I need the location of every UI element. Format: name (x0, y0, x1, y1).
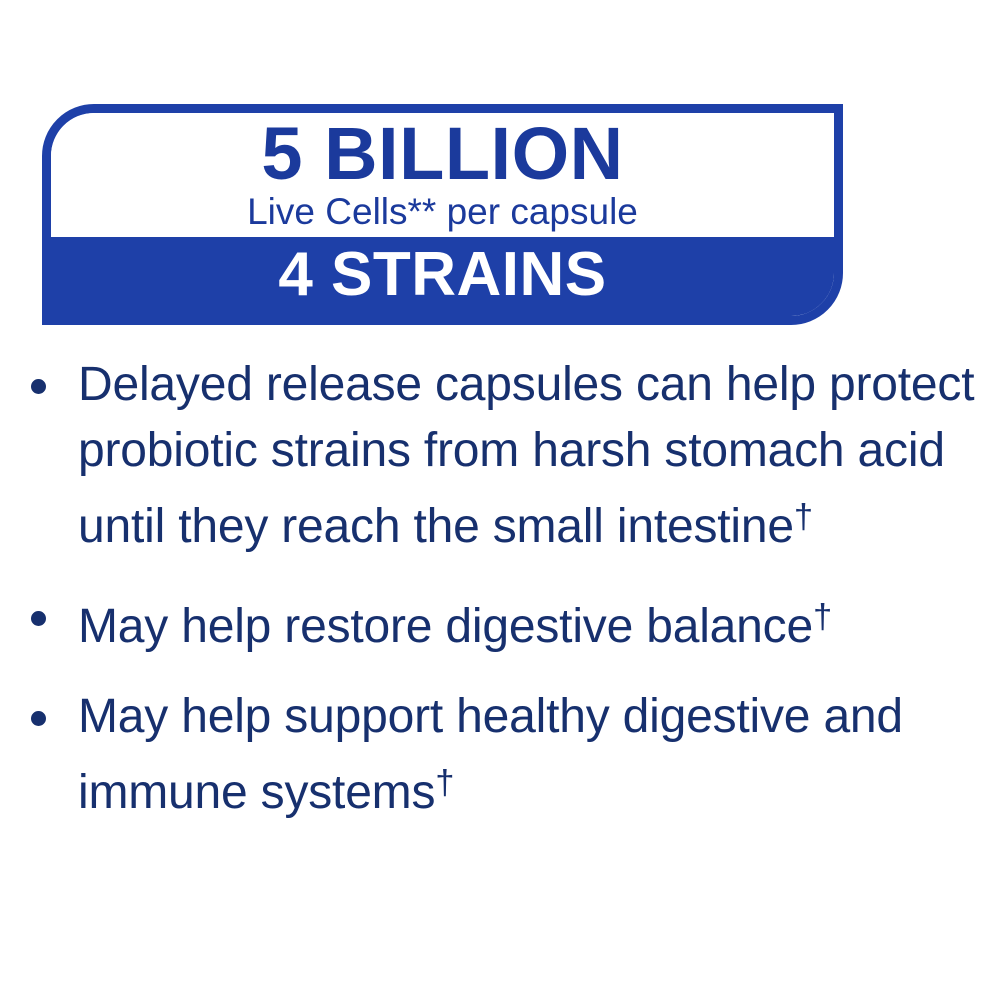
potency-badge: 5 BILLION Live Cells** per capsule 4 STR… (42, 104, 843, 325)
benefit-text: May help support healthy digestive and i… (78, 684, 982, 826)
footnote-dagger-icon: † (813, 598, 832, 636)
benefits-list: Delayed release capsules can help protec… (0, 352, 1000, 825)
list-item: May help restore digestive balance† (0, 584, 1000, 660)
badge-strains-section: 4 STRAINS (51, 237, 834, 316)
bullet-dot-icon (31, 711, 46, 726)
footnote-dagger-icon: † (794, 498, 813, 536)
badge-live-cells-section: 5 BILLION Live Cells** per capsule (51, 113, 834, 237)
badge-subline-live-cells-per-capsule: Live Cells** per capsule (247, 192, 638, 232)
badge-strain-count: 4 STRAINS (278, 243, 606, 307)
list-item: Delayed release capsules can help protec… (0, 352, 1000, 560)
bullet-dot-icon (31, 379, 46, 394)
benefit-text: May help restore digestive balance† (78, 584, 982, 660)
probiotic-benefits-panel: 5 BILLION Live Cells** per capsule 4 STR… (0, 0, 1000, 1000)
benefit-text-body: Delayed release capsules can help protec… (78, 358, 974, 553)
benefit-text-body: May help restore digestive balance (78, 600, 813, 653)
bullet-dot-icon (31, 611, 46, 626)
footnote-dagger-icon: † (435, 764, 454, 802)
benefit-text: Delayed release capsules can help protec… (78, 352, 982, 560)
benefit-text-body: May help support healthy digestive and i… (78, 690, 903, 819)
list-item: May help support healthy digestive and i… (0, 684, 1000, 826)
badge-headline-live-cell-count: 5 BILLION (261, 115, 623, 193)
